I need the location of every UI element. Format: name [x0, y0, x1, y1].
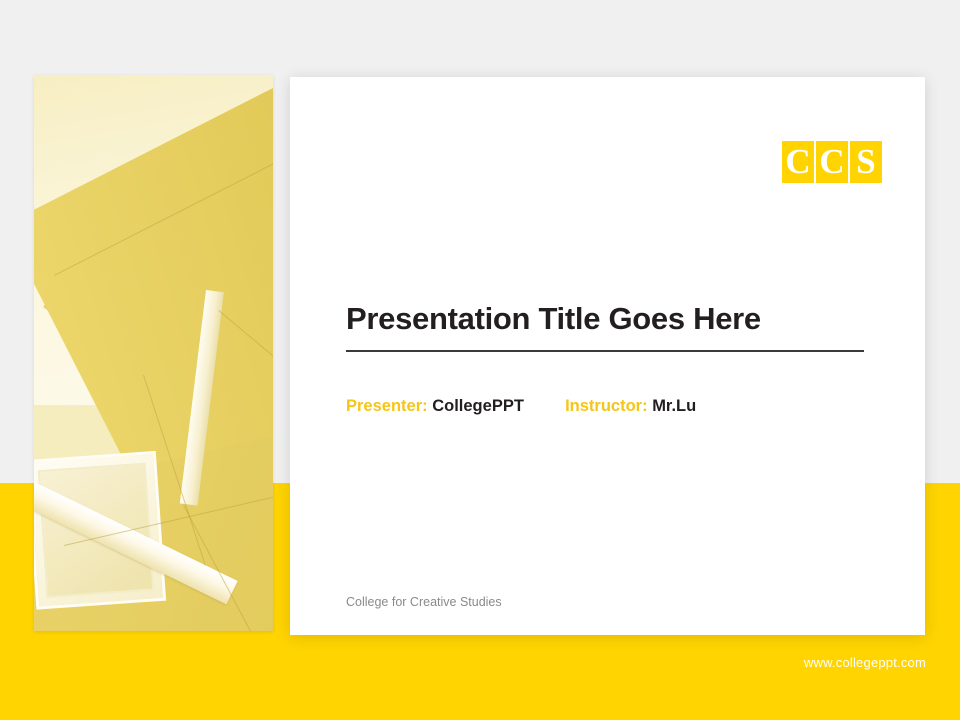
slide-card: C C S Presentation Title Goes Here Prese…: [290, 77, 925, 635]
site-url-text: www.collegeppt.com: [804, 655, 926, 670]
credits-line: Presenter: CollegePPT Instructor: Mr.Lu: [346, 397, 696, 416]
ccs-logo-letter-1: C: [782, 141, 814, 183]
instructor-value: Mr.Lu: [652, 397, 696, 415]
ccs-logo: C C S: [782, 141, 882, 183]
title-block: Presentation Title Goes Here: [346, 301, 866, 352]
instructor-label: Instructor:: [565, 397, 648, 415]
decorative-photo-panel: [34, 75, 273, 631]
title-divider: [346, 350, 864, 352]
page-title: Presentation Title Goes Here: [346, 301, 866, 337]
presenter-value: CollegePPT: [432, 397, 524, 415]
ccs-logo-letter-3: S: [850, 141, 882, 183]
presenter-label: Presenter:: [346, 397, 428, 415]
slide-footer-text: College for Creative Studies: [346, 595, 502, 609]
ccs-logo-letter-2: C: [816, 141, 848, 183]
